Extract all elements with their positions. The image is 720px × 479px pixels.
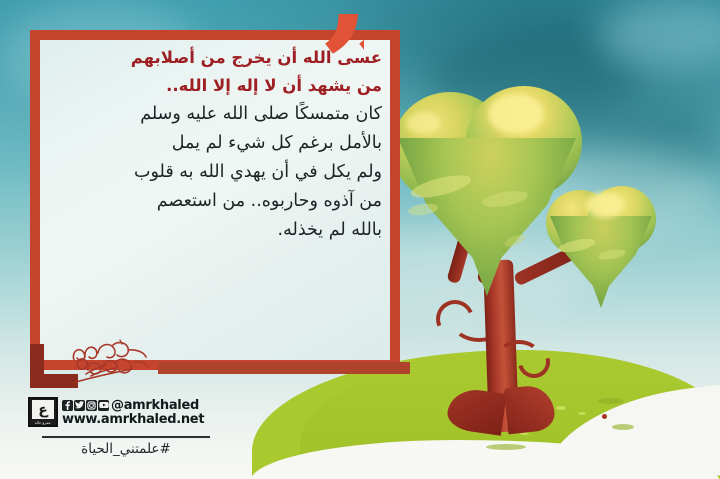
logo-glyph: ع [32,400,54,419]
quote-line: بالأمل برغم كل شيء لم يمل [40,129,382,158]
heart-highlight [586,192,624,218]
brand-text-column: @amrkhaled www.amrkhaled.net [62,398,204,426]
twitter-icon[interactable] [74,400,85,411]
horizontal-rule-bar [158,362,410,374]
large-heart-foliage [392,86,582,286]
amr-khaled-logo[interactable]: ع عمرو خالد [28,397,58,427]
logo-caption: عمرو خالد [35,420,51,424]
hashtag-divider [42,436,210,438]
heart-highlight [488,94,544,134]
quote-line: من آذوه وحاربوه.. من استعصم [40,187,382,216]
social-links-row: @amrkhaled [62,398,204,412]
heart-tree-illustration [400,90,720,420]
instagram-icon[interactable] [86,400,97,411]
quote-line: كان متمسكًا صلى الله عليه وسلم [40,100,382,129]
heart-shine [407,202,438,217]
social-handle[interactable]: @amrkhaled [111,399,199,412]
quote-line: من يشهد أن لا إله إلا الله.. [40,72,382,100]
grass-shade-speck [486,444,526,450]
poster-root: ” عسى الله أن يخرج من أصلابهم من يشهد أن… [0,0,720,479]
website-url[interactable]: www.amrkhaled.net [62,413,204,426]
brand-block: ع عمرو خالد @amrkhaled www.amrkhaled.ne [28,397,204,427]
quote-text-block: عسى الله أن يخرج من أصلابهم من يشهد أن ل… [40,44,390,245]
quote-line: ولم يكل في أن يهدي الله به قلوب [40,158,382,187]
heart-body [398,138,576,296]
hashtag-text[interactable]: #علمتني_الحياة [42,441,210,457]
quote-line: بالله لم يخذله. [40,216,382,245]
grass-shade-speck [612,424,634,430]
curly-tendril-stem [498,340,540,370]
heart-highlight-secondary [406,112,440,134]
signature-calligraphy [58,336,162,394]
facebook-icon[interactable] [62,400,73,411]
youtube-icon[interactable] [98,400,109,411]
quote-line: عسى الله أن يخرج من أصلابهم [40,44,382,72]
